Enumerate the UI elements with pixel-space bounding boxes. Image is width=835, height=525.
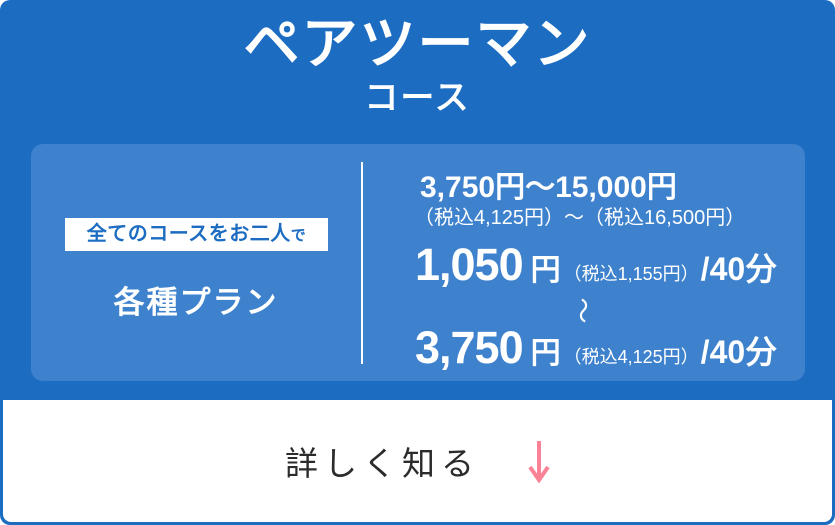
pair-to-man-course-card: ペアツーマン コース 全てのコースをお二人で 各種プラン 3,750円〜15,0…	[0, 0, 835, 525]
rate-amount: 3,750	[415, 322, 523, 374]
status-badge: 全てのコースをお二人で	[65, 218, 328, 251]
price-range: 3,750円〜15,000円	[420, 162, 677, 206]
rate-tax-note: （税込4,125円）	[564, 343, 699, 369]
rate-currency-unit: 円	[531, 245, 561, 289]
badge-suffix-text: で	[291, 227, 307, 244]
pricing-panel: 全てのコースをお二人で 各種プラン 3,750円〜15,000円 （税込4,12…	[31, 144, 805, 381]
rate-duration: /40分	[701, 244, 778, 290]
rate-duration: /40分	[701, 327, 778, 373]
page-subtitle: コース	[0, 76, 835, 118]
page-title: ペアツーマン	[0, 0, 835, 76]
learn-more-button[interactable]: 詳しく知る	[3, 400, 832, 522]
panel-left-column: 全てのコースをお二人で 各種プラン	[31, 144, 361, 381]
learn-more-label: 詳しく知る	[285, 437, 480, 485]
plan-label: 各種プラン	[31, 277, 361, 322]
rate-currency-unit: 円	[531, 328, 561, 372]
panel-right-column: 3,750円〜15,000円 （税込4,125円）〜（税込16,500円） 1,…	[363, 144, 805, 381]
rate-row: 3,750 円 （税込4,125円） /40分	[415, 322, 777, 374]
rate-amount: 1,050	[415, 239, 523, 291]
card-header: ペアツーマン コース	[0, 0, 835, 140]
learn-more-content: 詳しく知る	[285, 437, 550, 485]
badge-main-text: 全てのコースをお二人	[87, 223, 291, 245]
arrow-down-icon	[528, 439, 550, 483]
